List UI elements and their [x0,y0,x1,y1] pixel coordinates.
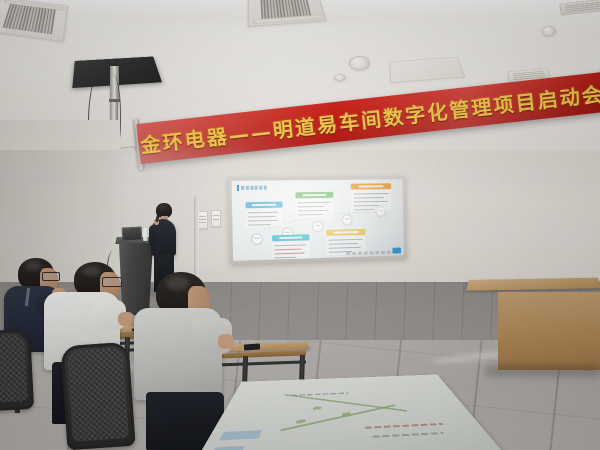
presenter-arm [149,225,158,247]
side-table-front [498,292,600,370]
poster-text-3 [372,432,444,438]
poster-block-2 [212,445,246,450]
podium-laptop [122,226,143,241]
slide-title [237,185,268,191]
door-edge [194,196,199,278]
downlight-center [334,74,346,81]
slide-logo [392,248,401,254]
slide-card-3 [351,183,392,211]
poster-stem-1 [284,394,407,411]
poster-text-1 [291,392,348,396]
slide-surface [232,179,404,261]
water-bottle [143,228,148,241]
meeting-room-photo: 金环电器——明道易车间数字化管理项目启动会 [0,0,600,450]
downlight-right [542,26,556,36]
smartphone [244,343,260,350]
attendee-3-hand [218,334,234,349]
slide-title-accent [237,185,239,191]
slide-card-2 [295,192,333,219]
mesh-chair-center[interactable] [60,342,135,450]
mesh-chair-left[interactable] [0,329,34,411]
poster-leaf-1 [312,406,321,410]
attendee-2-hands [118,312,134,326]
poster-text-2 [365,423,444,429]
slide-title-text [241,186,268,190]
attendee-1-glasses [42,272,60,281]
slide-footer-text [346,251,390,255]
attendee-2-glasses [102,277,122,287]
wall-notice-2 [211,210,221,227]
slide-card-4 [272,234,310,259]
slide-card-1 [246,202,283,227]
smoke-detector [349,56,370,70]
projection-screen [228,176,407,264]
side-table-shadow [486,366,600,376]
poster-block-1 [219,430,262,440]
